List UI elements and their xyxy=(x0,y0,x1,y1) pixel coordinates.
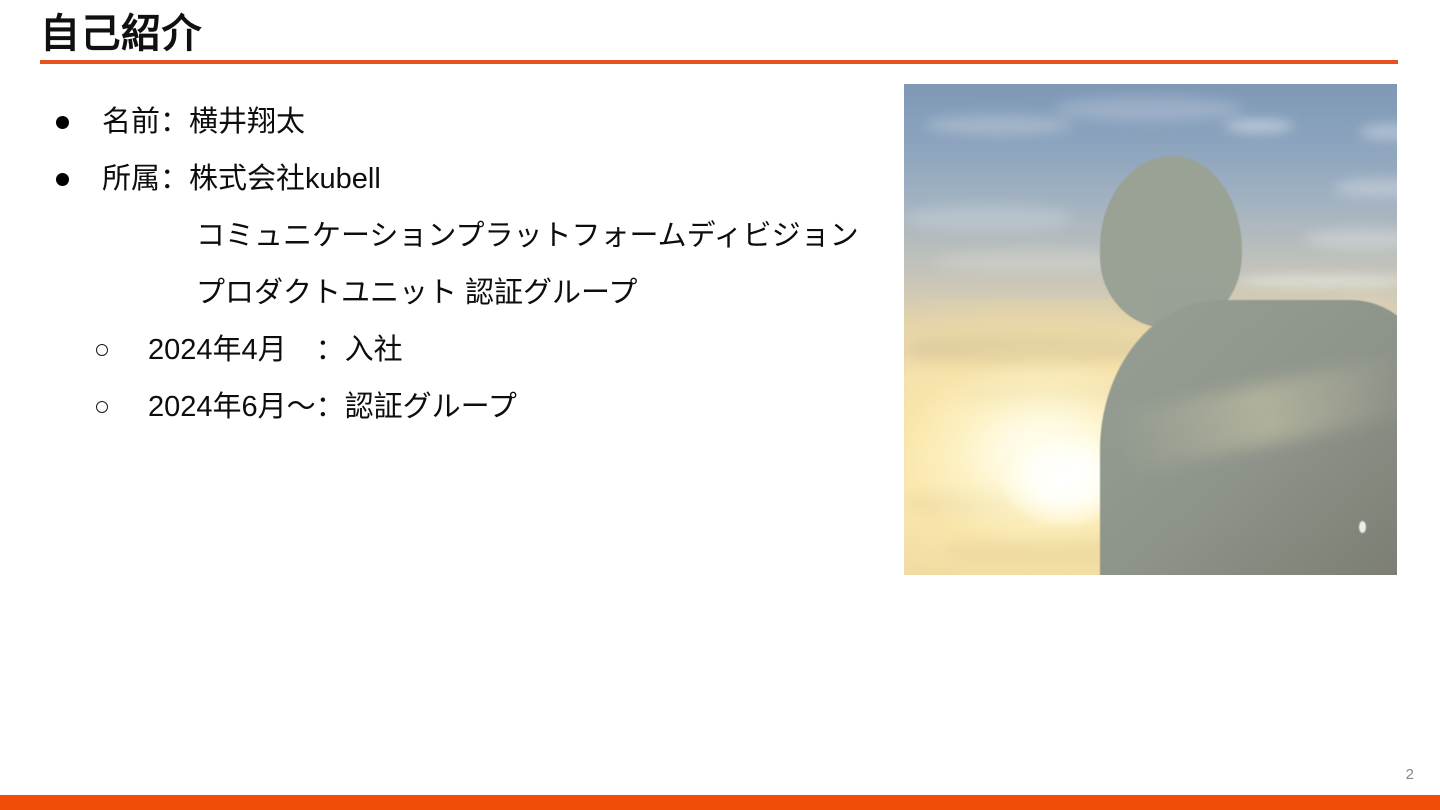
footer-accent-bar xyxy=(0,795,1440,810)
sub-list-item: 2024年6月～：認証グループ xyxy=(56,381,896,438)
list-item-label: 名前：横井翔太 xyxy=(102,96,305,148)
profile-photo xyxy=(904,84,1397,575)
list-item-continuation-label: コミュニケーションプラットフォームディビジョン xyxy=(196,210,859,262)
page-title: 自己紹介 xyxy=(40,8,202,60)
page-number: 2 xyxy=(1406,767,1414,783)
glint-highlight-icon xyxy=(1359,521,1366,533)
cloud-wisp xyxy=(1054,96,1244,122)
cloud-wisp xyxy=(1224,120,1294,132)
list-item-continuation: コミュニケーションプラットフォームディビジョン xyxy=(56,210,896,267)
sub-list-item-label: 2024年6月～：認証グループ xyxy=(148,381,517,433)
list-item-continuation: プロダクトユニット 認証グループ xyxy=(56,267,896,324)
bullet-marker-col xyxy=(56,153,102,205)
hollow-circle-bullet-icon xyxy=(96,344,108,356)
slide: 自己紹介 名前：横井翔太 所属：株式会社kubell コミュニケーションプラット… xyxy=(0,0,1440,810)
filled-disc-bullet-icon xyxy=(56,116,69,129)
list-item-label: 所属：株式会社kubell xyxy=(102,153,381,205)
filled-disc-bullet-icon xyxy=(56,173,69,186)
cloud-wisp xyxy=(924,114,1074,136)
body-content-list: 名前：横井翔太 所属：株式会社kubell コミュニケーションプラットフォームデ… xyxy=(56,96,896,438)
cloud-wisp xyxy=(904,204,1074,232)
sub-list-item-label: 2024年4月 ：入社 xyxy=(148,324,403,376)
hollow-circle-bullet-icon xyxy=(96,401,108,413)
list-item: 所属：株式会社kubell xyxy=(56,153,896,210)
sub-bullet-marker-col xyxy=(56,324,148,376)
sub-list-item: 2024年4月 ：入社 xyxy=(56,324,896,381)
bullet-marker-col xyxy=(56,96,102,148)
title-underline-rule xyxy=(40,60,1398,64)
list-item-continuation-label: プロダクトユニット 認証グループ xyxy=(196,267,637,319)
sub-bullet-marker-col xyxy=(56,381,148,433)
list-item: 名前：横井翔太 xyxy=(56,96,896,153)
